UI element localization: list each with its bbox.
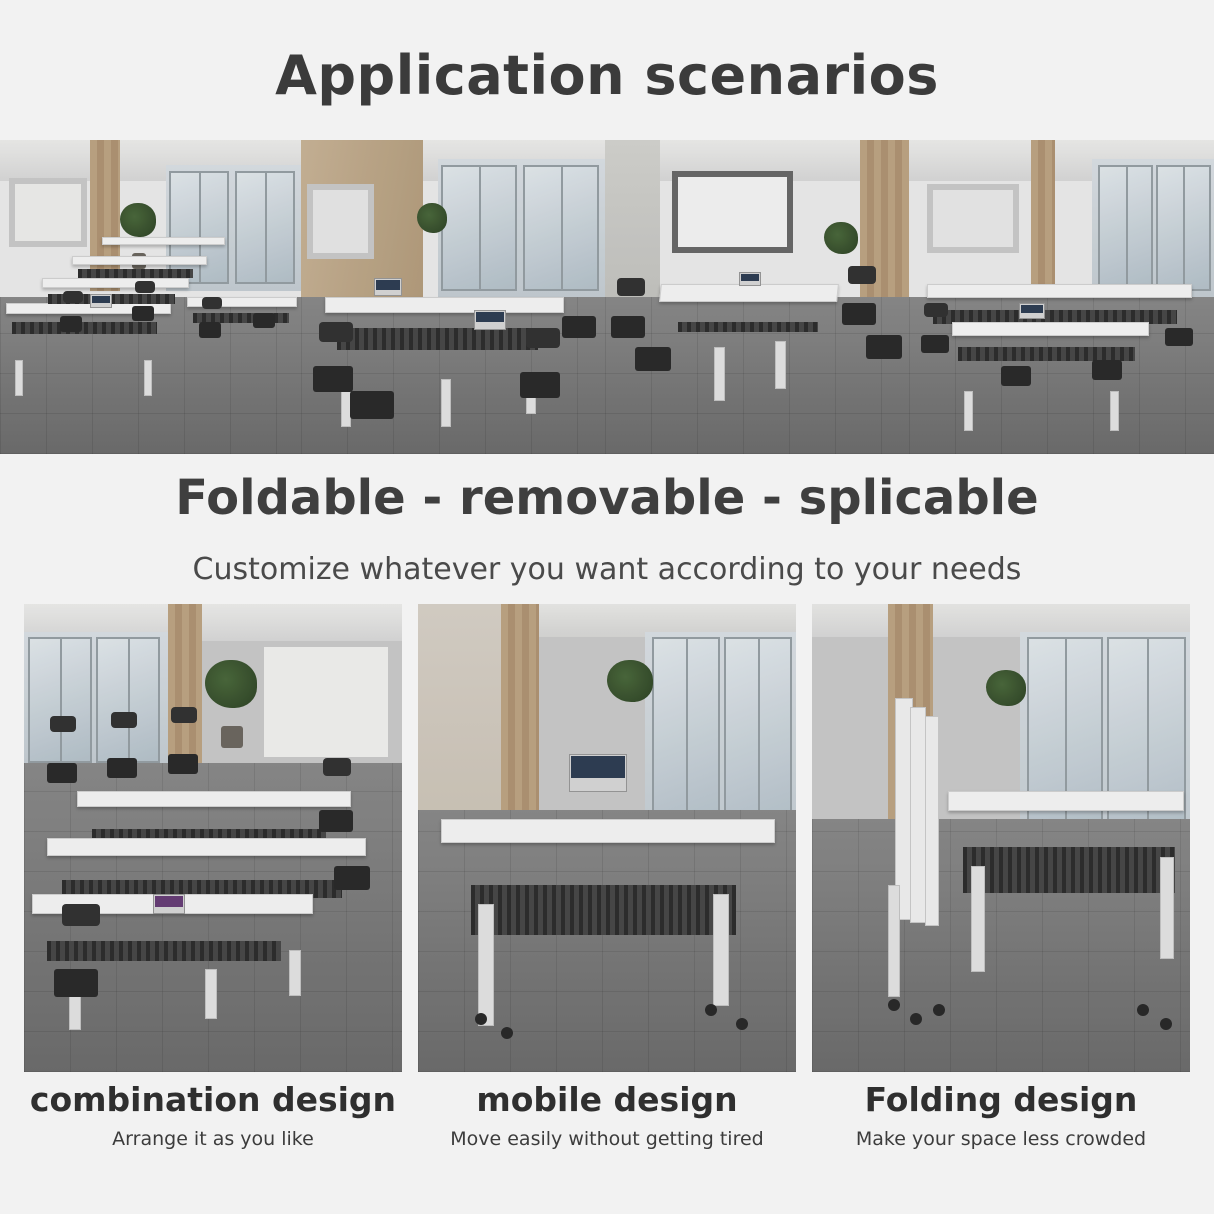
photo-long-conference-table	[301, 140, 605, 454]
photo-u-shape-meeting-room	[909, 140, 1214, 454]
page-title: Application scenarios	[0, 44, 1214, 107]
feature-photo-row	[0, 604, 1214, 1074]
caption-folding-title: Folding design	[812, 1078, 1190, 1122]
caption-folding-subtitle: Make your space less crowded	[812, 1128, 1190, 1150]
poster-root: Application scenarios	[0, 0, 1214, 1214]
caption-combination-subtitle: Arrange it as you like	[24, 1128, 402, 1150]
section-subtitle: Foldable - removable - splicable	[0, 470, 1214, 526]
caption-mobile-title: mobile design	[418, 1078, 796, 1122]
photo-classroom-training-room	[0, 140, 301, 454]
caption-combination-title: combination design	[24, 1078, 402, 1122]
photo-folding-table	[812, 604, 1190, 1072]
caption-combination: combination design Arrange it as you lik…	[24, 1078, 402, 1188]
caption-folding: Folding design Make your space less crow…	[812, 1078, 1190, 1188]
photo-combination-layout	[24, 604, 402, 1072]
top-photo-strip	[0, 140, 1214, 454]
photo-mobile-table	[418, 604, 796, 1072]
caption-mobile: mobile design Move easily without gettin…	[418, 1078, 796, 1188]
caption-mobile-subtitle: Move easily without getting tired	[418, 1128, 796, 1150]
photo-boardroom-projector-screen	[605, 140, 909, 454]
section-subtitle-secondary: Customize whatever you want according to…	[0, 552, 1214, 587]
feature-caption-row: combination design Arrange it as you lik…	[0, 1078, 1214, 1188]
